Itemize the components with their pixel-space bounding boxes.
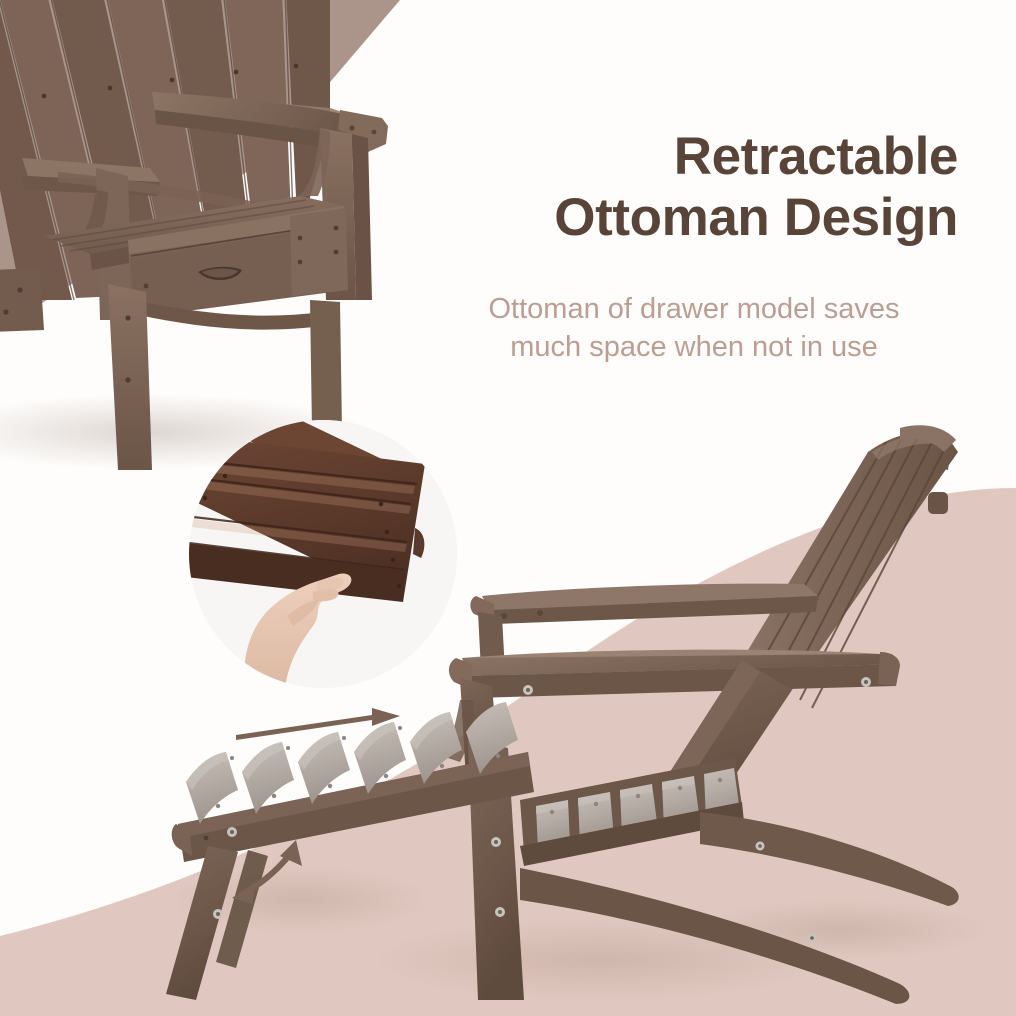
headline-line-2: Ottoman Design <box>430 187 958 248</box>
pivot-double-arrow <box>232 840 302 904</box>
slide-out-arrow <box>236 708 400 740</box>
headline: Retractable Ottoman Design <box>430 126 958 249</box>
subheadline-line-2: much space when not in use <box>430 328 958 366</box>
subheadline-line-1: Ottoman of drawer model saves <box>430 290 958 328</box>
headline-line-1: Retractable <box>430 126 958 187</box>
product-banner: Retractable Ottoman Design Ottoman of dr… <box>0 0 1016 1016</box>
subheadline: Ottoman of drawer model saves much space… <box>430 290 958 367</box>
